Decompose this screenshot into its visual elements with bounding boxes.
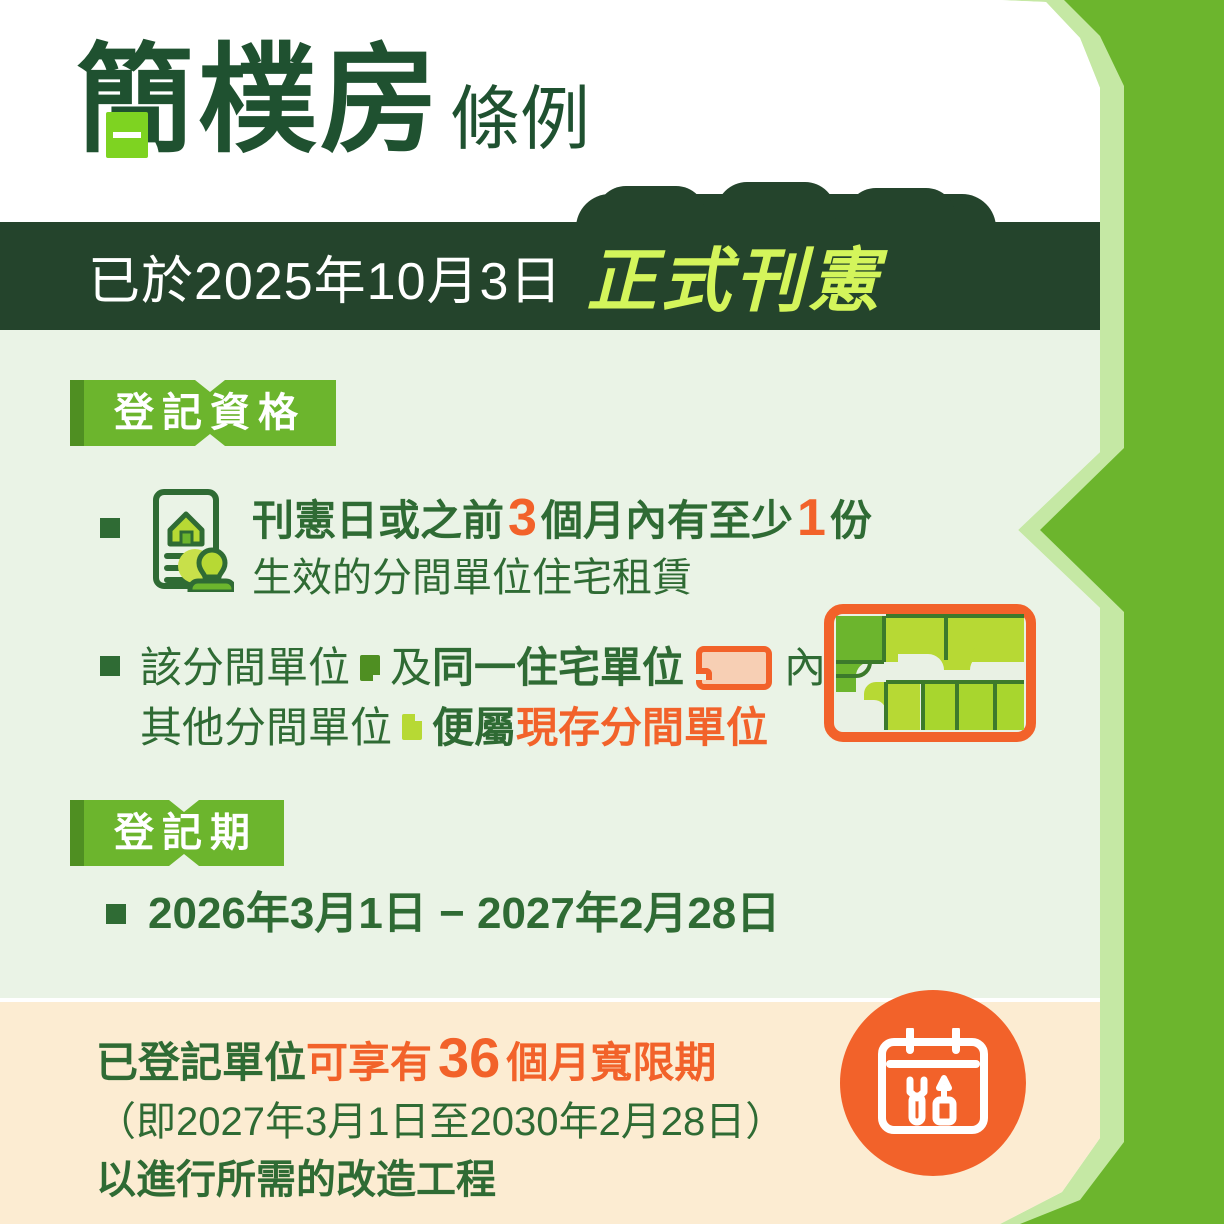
period-date-range: 2026年3月1日 − 2027年2月28日 <box>148 892 780 936</box>
subdivided-flat-floorplan-icon <box>824 604 1036 742</box>
bullet-square-icon <box>100 518 120 538</box>
ribbon-label-eligibility: 登記資格 <box>114 393 306 433</box>
bullet-2-line2-bold: 便屬 <box>432 698 516 758</box>
banner-text-group: 已於2025年10月3日 正式刊憲 <box>88 240 882 310</box>
section-heading-period: 登記期 <box>84 800 284 866</box>
bullet-2-line-2: 其他分間單位 便屬 現存分間單位 <box>140 698 826 758</box>
bullet-2-text-c: 內 <box>784 638 826 698</box>
footer-line1-orange-b: 個月寬限期 <box>506 1039 716 1086</box>
eligibility-bullet-2: 該分間單位 及 同一住宅單位 內 其他分間單位 便屬 現存分間單位 <box>100 638 826 757</box>
footer-line1-orange-a: 可享有 <box>306 1039 432 1086</box>
footer-line-3: 以進行所需的改造工程 <box>96 1154 785 1206</box>
bullet-1-text-a: 刊憲日或之前 <box>252 497 504 544</box>
footer-line1-green: 已登記單位 <box>96 1039 306 1086</box>
eligibility-bullet-1: 刊憲日或之前3個月內有至少1份 生效的分間單位住宅租賃 <box>100 488 872 603</box>
bullet-1-line-1: 刊憲日或之前3個月內有至少1份 <box>252 488 872 549</box>
document-house-stamp-icon <box>142 488 234 597</box>
title-sub-text: 條例 <box>450 84 590 154</box>
bullet-square-icon <box>100 656 120 676</box>
page-title: 簡樸房 條例 <box>76 42 590 160</box>
bullet-2-text-b: 及 <box>390 638 432 698</box>
title-main-text: 簡樸房 <box>76 42 442 160</box>
bullet-2-line2-orange: 現存分間單位 <box>516 698 768 758</box>
infographic-root: 簡樸房 條例 已於2025年10月3日 正式刊憲 登記資格 <box>0 0 1224 1224</box>
banner-highlight-text: 正式刊憲 <box>586 246 882 316</box>
bullet-1-line-2: 生效的分間單位住宅租賃 <box>252 553 872 603</box>
eligibility-bullet-2-text: 該分間單位 及 同一住宅單位 內 其他分間單位 便屬 現存分間單位 <box>140 638 826 757</box>
bullet-1-text-c: 份 <box>830 497 872 544</box>
bullet-1-text-b: 個月內有至少 <box>541 497 793 544</box>
bullet-1-number-months: 3 <box>504 489 541 547</box>
bullet-2-text-a: 該分間單位 <box>140 638 350 698</box>
ribbon-tail <box>70 380 84 446</box>
calendar-tools-icon <box>840 990 1026 1176</box>
bullet-2-line-1: 該分間單位 及 同一住宅單位 內 <box>140 638 826 698</box>
banner-date-text: 已於2025年10月3日 <box>88 256 562 308</box>
footer-line-1: 已登記單位可享有36個月寬限期 <box>96 1022 785 1094</box>
footer-text-group: 已登記單位可享有36個月寬限期 （即2027年3月1日至2030年2月28日） … <box>96 1022 785 1206</box>
bullet-1-number-count: 1 <box>793 489 830 547</box>
orange-outline-flat-swatch-icon <box>696 646 772 690</box>
ribbon-tail <box>70 800 84 866</box>
bullet-2-line2-text-a: 其他分間單位 <box>140 698 392 758</box>
eligibility-bullet-1-text: 刊憲日或之前3個月內有至少1份 生效的分間單位住宅租賃 <box>252 488 872 603</box>
period-date-row: 2026年3月1日 − 2027年2月28日 <box>106 892 780 936</box>
dark-green-unit-swatch-icon <box>360 655 380 681</box>
bullet-square-icon <box>106 904 126 924</box>
section-heading-eligibility: 登記資格 <box>84 380 336 446</box>
bullet-2-text-bold: 同一住宅單位 <box>432 638 684 698</box>
content-card: 簡樸房 條例 已於2025年10月3日 正式刊憲 登記資格 <box>0 0 1100 1224</box>
ribbon-label-period: 登記期 <box>114 813 258 853</box>
footer-grace-months: 36 <box>432 1026 506 1089</box>
footer-line-2: （即2027年3月1日至2030年2月28日） <box>96 1096 785 1148</box>
light-green-unit-swatch-icon <box>402 714 422 740</box>
